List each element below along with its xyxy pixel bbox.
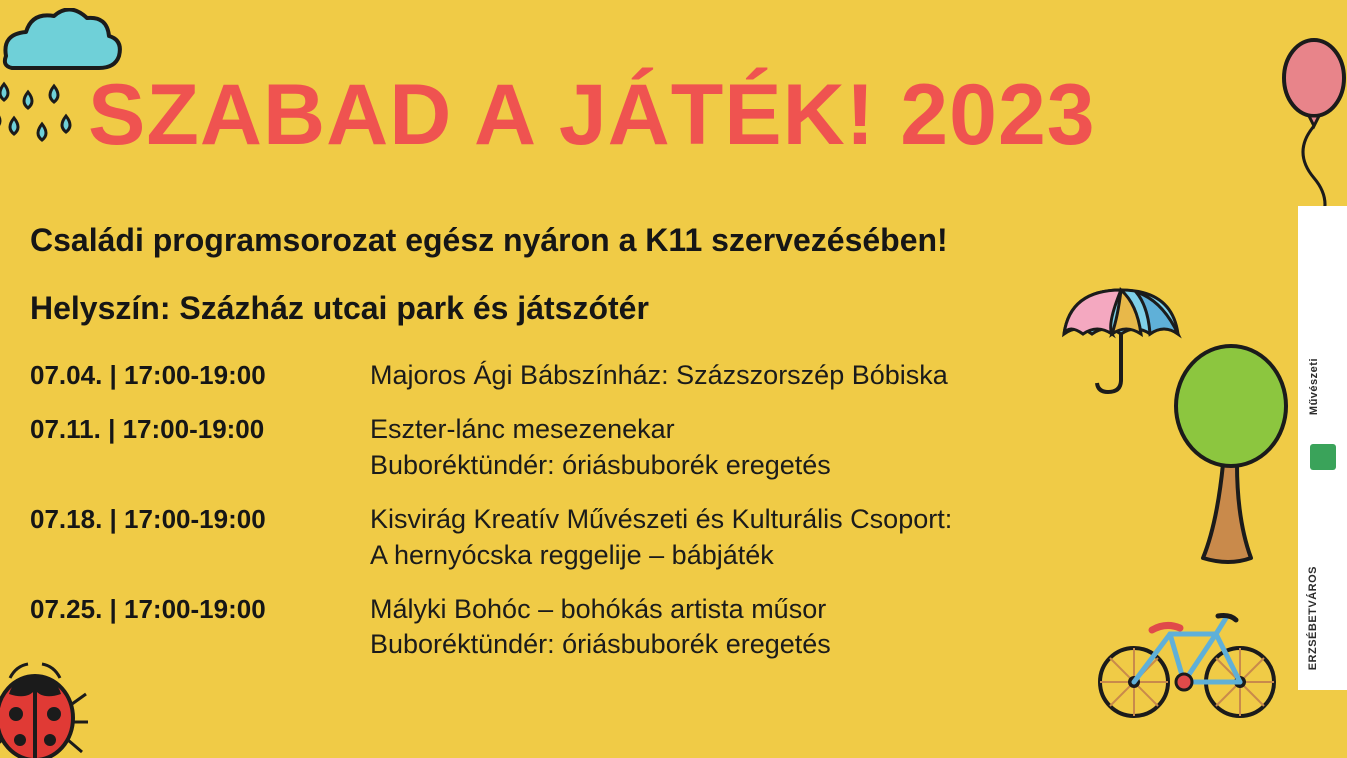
program-datetime: 07.25. | 17:00-19:00: [30, 592, 370, 625]
sponsor-label-muveszeti: Művészeti: [1308, 358, 1320, 415]
program-datetime: 07.18. | 17:00-19:00: [30, 502, 370, 535]
program-datetime: 07.04. | 17:00-19:00: [30, 358, 370, 391]
program-description: Majoros Ági Bábszínház: Százszorszép Bób…: [370, 358, 948, 394]
list-item: 07.25. | 17:00-19:00 Mályki Bohóc – bohó…: [30, 592, 1110, 664]
page-title: SZABAD A JÁTÉK! 2023: [88, 72, 1096, 158]
subtitle-venue: Helyszín: Százház utcai park és játszóté…: [30, 290, 649, 327]
tree-icon: [1168, 334, 1298, 599]
list-item: 07.04. | 17:00-19:00 Majoros Ági Bábszín…: [30, 358, 1110, 394]
list-item: 07.11. | 17:00-19:00 Eszter-lánc mesezen…: [30, 412, 1110, 484]
poster-canvas: SZABAD A JÁTÉK! 2023 Családi programsoro…: [0, 0, 1347, 758]
ladybug-icon: [0, 660, 100, 758]
program-description: Eszter-lánc mesezenekar Buboréktündér: ó…: [370, 412, 831, 484]
program-list: 07.04. | 17:00-19:00 Majoros Ági Bábszín…: [30, 358, 1110, 681]
program-description: Mályki Bohóc – bohókás artista műsor Bub…: [370, 592, 831, 664]
sponsor-label-erzsebetvaros: ERZSÉBETVÁROS: [1307, 566, 1319, 670]
rain-cloud-icon: [0, 8, 128, 163]
program-datetime: 07.11. | 17:00-19:00: [30, 412, 370, 445]
umbrella-icon: [1056, 278, 1186, 403]
subtitle-program-series: Családi programsorozat egész nyáron a K1…: [30, 222, 948, 259]
sponsor-logo-strip: Művészeti ERZSÉBETVÁROS: [1298, 206, 1347, 690]
list-item: 07.18. | 17:00-19:00 Kisvirág Kreatív Mű…: [30, 502, 1110, 574]
bicycle-icon: [1092, 596, 1282, 731]
sponsor-mark-icon: [1310, 444, 1336, 470]
program-description: Kisvirág Kreatív Művészeti és Kulturális…: [370, 502, 952, 574]
